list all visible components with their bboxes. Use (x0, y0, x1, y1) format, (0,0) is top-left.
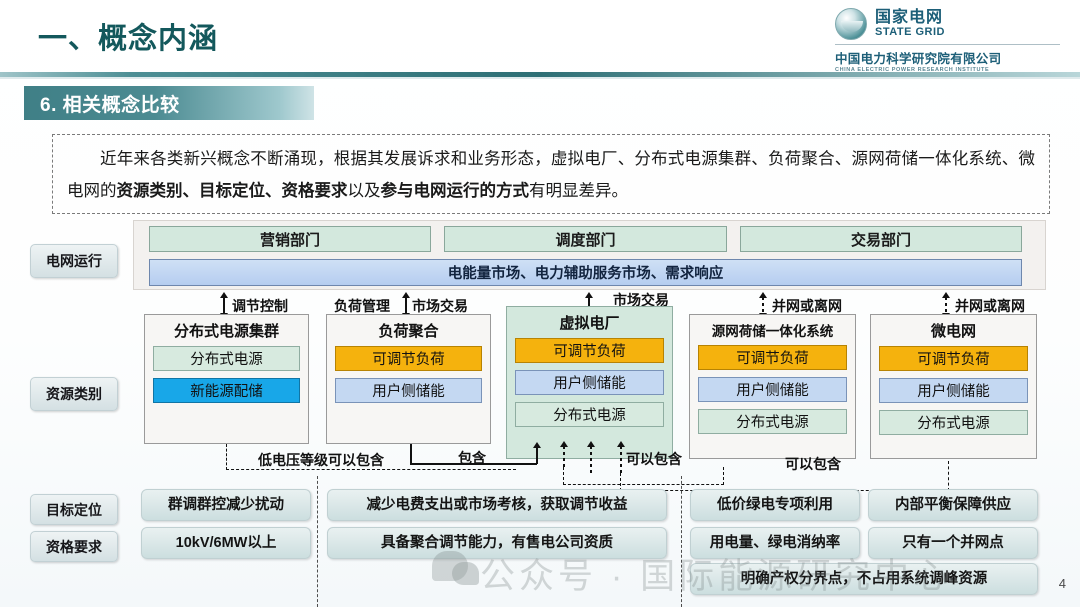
resource-chip-user-side-storage: 用户侧储能 (698, 377, 847, 402)
qualification-box-micro-grid: 只有一个并网点 (868, 527, 1038, 559)
concept-card-micro-grid[interactable]: 微电网 可调节负荷 用户侧储能 分布式电源 (870, 314, 1037, 459)
page-title: 一、概念内涵 (38, 15, 218, 57)
containment-arrow-into-vpp-3 (620, 446, 622, 474)
containment-label-can-contain-1: 可以包含 (626, 449, 682, 469)
concept-title: 微电网 (871, 320, 1036, 341)
concept-title: 虚拟电厂 (507, 312, 672, 333)
containment-line-contains-left (410, 444, 412, 464)
connector-arrow-grid-or-off-grid-2 (945, 297, 947, 314)
institute-name-cn: 中国电力科学研究院有限公司 (835, 48, 1001, 67)
connector-label-load-management: 负荷管理 (334, 296, 390, 316)
department-box-dispatch: 调度部门 (444, 226, 727, 252)
connector-arrow-grid-or-off-grid-1 (762, 297, 764, 314)
resource-chip-adjustable-load: 可调节负荷 (515, 338, 664, 363)
logo-name-en: STATE GRID (875, 26, 945, 38)
qualification-box-shared: 明确产权分界点，不占用系统调峰资源 (690, 563, 1038, 595)
intro-text-part3: 有明显差异。 (529, 182, 628, 200)
institute-name-en: CHINA ELECTRIC POWER RESEARCH INSTITUTE (835, 67, 989, 73)
containment-label-contains: 包含 (458, 448, 486, 468)
containment-line-low-voltage-vertical (226, 444, 227, 470)
containment-arrow-into-vpp-1 (563, 446, 565, 468)
intro-bold-2: 参与电网运行的方式 (381, 182, 530, 200)
department-box-trading: 交易部门 (740, 226, 1022, 252)
connector-label-market-trading-1: 市场交易 (412, 296, 468, 316)
resource-chip-user-side-storage: 用户侧储能 (515, 370, 664, 395)
target-box-distributed-generation-cluster: 群调群控减少扰动 (141, 489, 311, 521)
market-bar: 电能量市场、电力辅助服务市场、需求响应 (149, 259, 1022, 286)
row-label-target-position: 目标定位 (30, 494, 118, 525)
containment-arrow-contains (536, 447, 538, 464)
state-grid-emblem-icon (835, 8, 867, 40)
containment-label-low-voltage: 低电压等级可以包含 (258, 450, 384, 470)
containment-line-can-contain-1-right (723, 467, 724, 485)
intro-bold-1: 资源类别、目标定位、资格要求 (117, 182, 348, 200)
group-separator-1 (317, 476, 318, 607)
intro-paragraph: 近年来各类新兴概念不断涌现，根据其发展诉求和业务形态，虚拟电厂、分布式电源集群、… (52, 134, 1050, 214)
qualification-box-source-grid-load-storage: 用电量、绿电消纳率 (690, 527, 860, 559)
connector-arrow-regulation-control (223, 297, 225, 314)
row-label-resource-type: 资源类别 (30, 377, 118, 411)
header-divider-secondary (0, 77, 1080, 79)
containment-label-can-contain-2: 可以包含 (785, 454, 841, 474)
resource-chip-adjustable-load: 可调节负荷 (335, 346, 482, 371)
target-box-micro-grid: 内部平衡保障供应 (868, 489, 1038, 521)
containment-arrow-into-vpp-2 (590, 446, 592, 474)
logo-name-cn: 国家电网 (875, 10, 945, 27)
logo-divider (835, 44, 1060, 45)
row-label-qualification: 资格要求 (30, 531, 118, 562)
resource-chip-distributed-generation: 分布式电源 (879, 410, 1028, 435)
resource-chip-distributed-generation: 分布式电源 (698, 409, 847, 434)
wechat-watermark-icon-secondary (452, 562, 479, 585)
page-number: 4 (1059, 576, 1066, 591)
slide-root: 一、概念内涵 国家电网 STATE GRID 中国电力科学研究院有限公司 CHI… (0, 0, 1080, 607)
containment-line-can-contain-2-right (948, 461, 949, 491)
containment-line-can-contain-1-horizontal (563, 484, 724, 485)
connector-arrow-load-management (405, 297, 407, 314)
qualification-box-distributed-generation-cluster: 10kV/6MW以上 (141, 527, 311, 559)
section-banner: 6. 相关概念比较 (24, 86, 314, 120)
qualification-box-load-aggregation: 具备聚合调节能力，有售电公司资质 (327, 527, 667, 559)
resource-chip-adjustable-load: 可调节负荷 (879, 346, 1028, 371)
connector-label-grid-or-off-grid-1: 并网或离网 (772, 296, 842, 316)
concept-title: 负荷聚合 (327, 320, 490, 341)
department-box-marketing: 营销部门 (149, 226, 431, 252)
target-box-load-aggregation: 减少电费支出或市场考核，获取调节收益 (327, 489, 667, 521)
concept-card-source-grid-load-storage-system[interactable]: 源网荷储一体化系统 可调节负荷 用户侧储能 分布式电源 (689, 314, 856, 459)
concept-title: 源网荷储一体化系统 (690, 320, 855, 340)
resource-chip-adjustable-load: 可调节负荷 (698, 345, 847, 370)
resource-chip-user-side-storage: 用户侧储能 (879, 378, 1028, 403)
row-label-grid-operation: 电网运行 (30, 244, 118, 278)
resource-chip-user-side-storage: 用户侧储能 (335, 378, 482, 403)
comparison-diagram: 电网运行 资源类别 目标定位 资格要求 营销部门 调度部门 交易部门 电能量市场… (0, 218, 1080, 607)
connector-label-grid-or-off-grid-2: 并网或离网 (955, 296, 1025, 316)
concept-card-load-aggregation[interactable]: 负荷聚合 可调节负荷 用户侧储能 (326, 314, 491, 444)
resource-chip-new-energy-storage: 新能源配储 (153, 378, 300, 403)
state-grid-logo: 国家电网 STATE GRID 中国电力科学研究院有限公司 CHINA ELEC… (835, 8, 1060, 73)
target-box-source-grid-load-storage: 低价绿电专项利用 (690, 489, 860, 521)
intro-text-part2: 以及 (348, 182, 381, 200)
concept-title: 分布式电源集群 (145, 320, 308, 341)
concept-card-virtual-power-plant[interactable]: 虚拟电厂 可调节负荷 用户侧储能 分布式电源 (506, 306, 673, 459)
containment-line-can-contain-1-vertical (563, 467, 564, 485)
connector-label-regulation-control: 调节控制 (232, 296, 288, 316)
group-separator-2 (681, 476, 682, 607)
concept-card-distributed-generation-cluster[interactable]: 分布式电源集群 分布式电源 新能源配储 (144, 314, 309, 444)
resource-chip-distributed-generation: 分布式电源 (153, 346, 300, 371)
resource-chip-distributed-generation: 分布式电源 (515, 402, 664, 427)
